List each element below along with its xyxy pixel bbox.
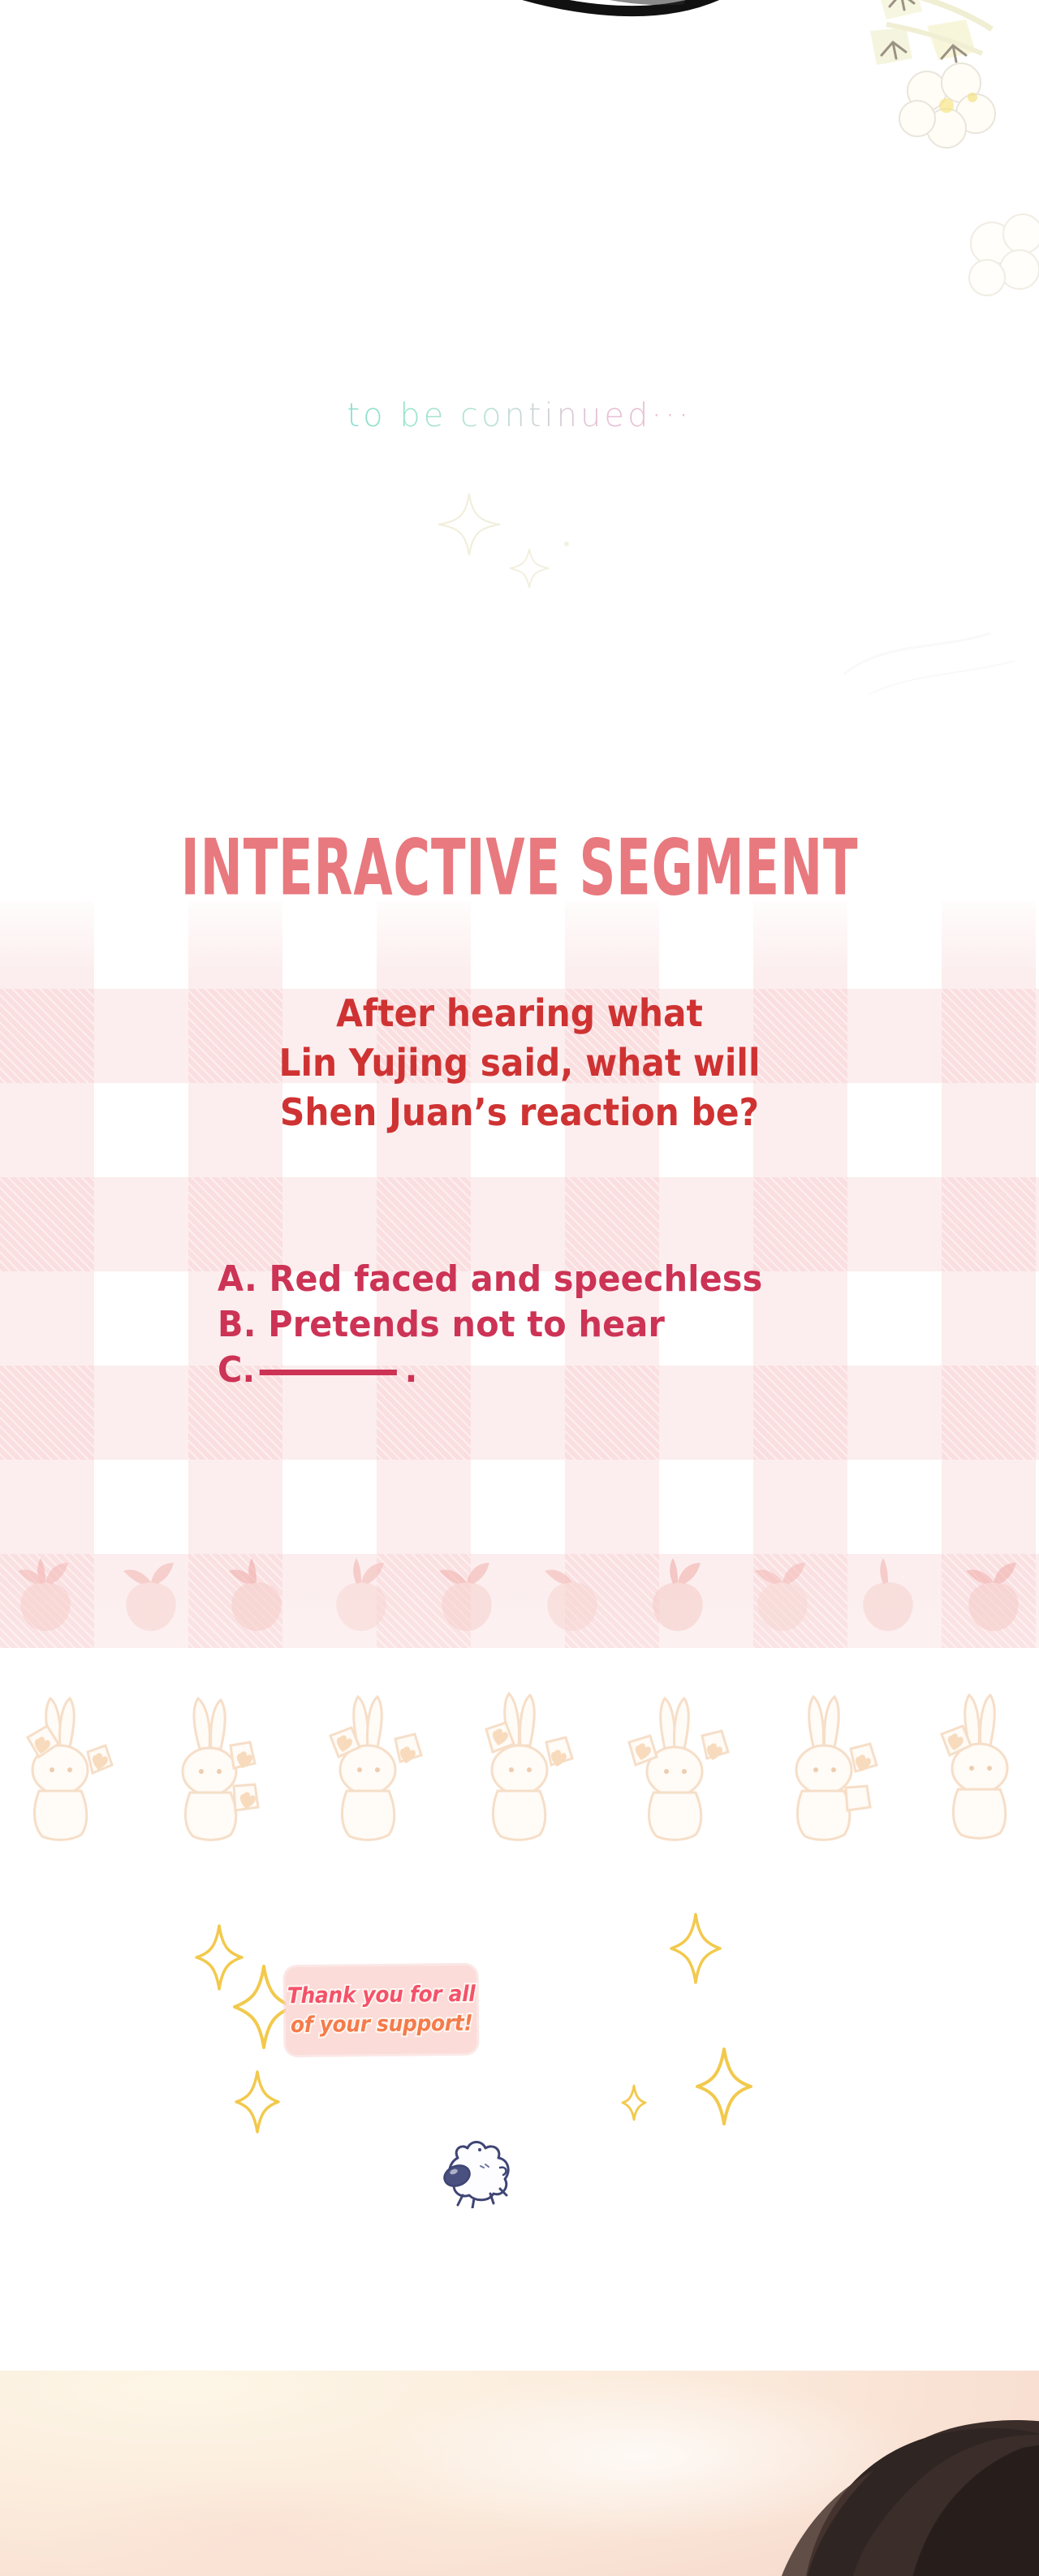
thank-you-badge-area: Thank you for all of your support! (0, 1916, 1039, 2184)
sparkle-icon (195, 1922, 244, 1992)
option-c-text: . (405, 1349, 418, 1391)
sparkle-icon (620, 2083, 648, 2122)
strawberry-icon (214, 1553, 299, 1638)
thank-you-panel: Thank you for all of your support! (0, 1648, 1039, 2371)
strawberry-icon (530, 1553, 614, 1638)
option-c-blank-field[interactable] (260, 1370, 397, 1375)
option-a[interactable]: A. Red faced and speechless (218, 1257, 904, 1302)
bunny-icon (153, 1689, 274, 1843)
bunny-icon (917, 1689, 1039, 1843)
strawberry-icon (846, 1553, 930, 1638)
question-line-1: After hearing what (41, 989, 998, 1038)
strawberry-icon (951, 1553, 1036, 1638)
option-a-text: Red faced and speechless (269, 1258, 762, 1300)
option-c-label: C. (218, 1349, 255, 1391)
character-hair (455, 2371, 1039, 2576)
option-b-label: B. (218, 1304, 257, 1345)
strawberry-icon (425, 1553, 509, 1638)
faint-decoration-icon (836, 617, 1031, 714)
bunny-icon (459, 1689, 580, 1843)
page-title: INTERACTIVE SEGMENT (104, 830, 935, 907)
question-line-2: Lin Yujing said, what will (41, 1038, 998, 1088)
option-c[interactable]: C.. (218, 1348, 904, 1393)
strawberry-icon (740, 1553, 825, 1638)
watercolor-flowers-icon (779, 0, 1039, 349)
bunny-border (0, 1689, 1039, 1843)
strawberry-icon (109, 1553, 193, 1638)
sparkle-icon (422, 487, 617, 601)
strawberry-icon (319, 1553, 403, 1638)
thank-you-line-1: Thank you for all (287, 1980, 475, 2011)
option-b[interactable]: B. Pretends not to hear (218, 1302, 904, 1348)
ink-brush-curve-icon (227, 0, 731, 57)
answer-options: A. Red faced and speechless B. Pretends … (218, 1257, 904, 1393)
option-a-label: A. (218, 1258, 257, 1300)
sheep-mascot-icon (429, 2135, 526, 2208)
bunny-icon (0, 1689, 122, 1843)
strawberry-icon (636, 1553, 720, 1638)
thank-you-text: Thank you for all of your support! (285, 1964, 476, 2056)
to-be-continued-text: to be continued··· (0, 399, 1039, 432)
sparkle-icon (234, 2069, 281, 2135)
strawberry-border (0, 1543, 1039, 1648)
strawberry-icon (3, 1553, 88, 1638)
option-b-text: Pretends not to hear (268, 1304, 665, 1345)
bunny-icon (611, 1689, 733, 1843)
comic-page: to be continued··· (0, 0, 1039, 2576)
next-scene-panel (0, 2371, 1039, 2576)
question-text: After hearing what Lin Yujing said, what… (41, 989, 998, 1137)
thank-you-line-2: of your support! (290, 2009, 472, 2040)
sparkle-icon (695, 2046, 753, 2127)
bunny-icon (306, 1689, 428, 1843)
sparkle-icon (669, 1911, 722, 1986)
to-be-continued-panel: to be continued··· (0, 0, 1039, 812)
bunny-icon (765, 1689, 886, 1843)
question-line-3: Shen Juan’s reaction be? (41, 1088, 998, 1137)
